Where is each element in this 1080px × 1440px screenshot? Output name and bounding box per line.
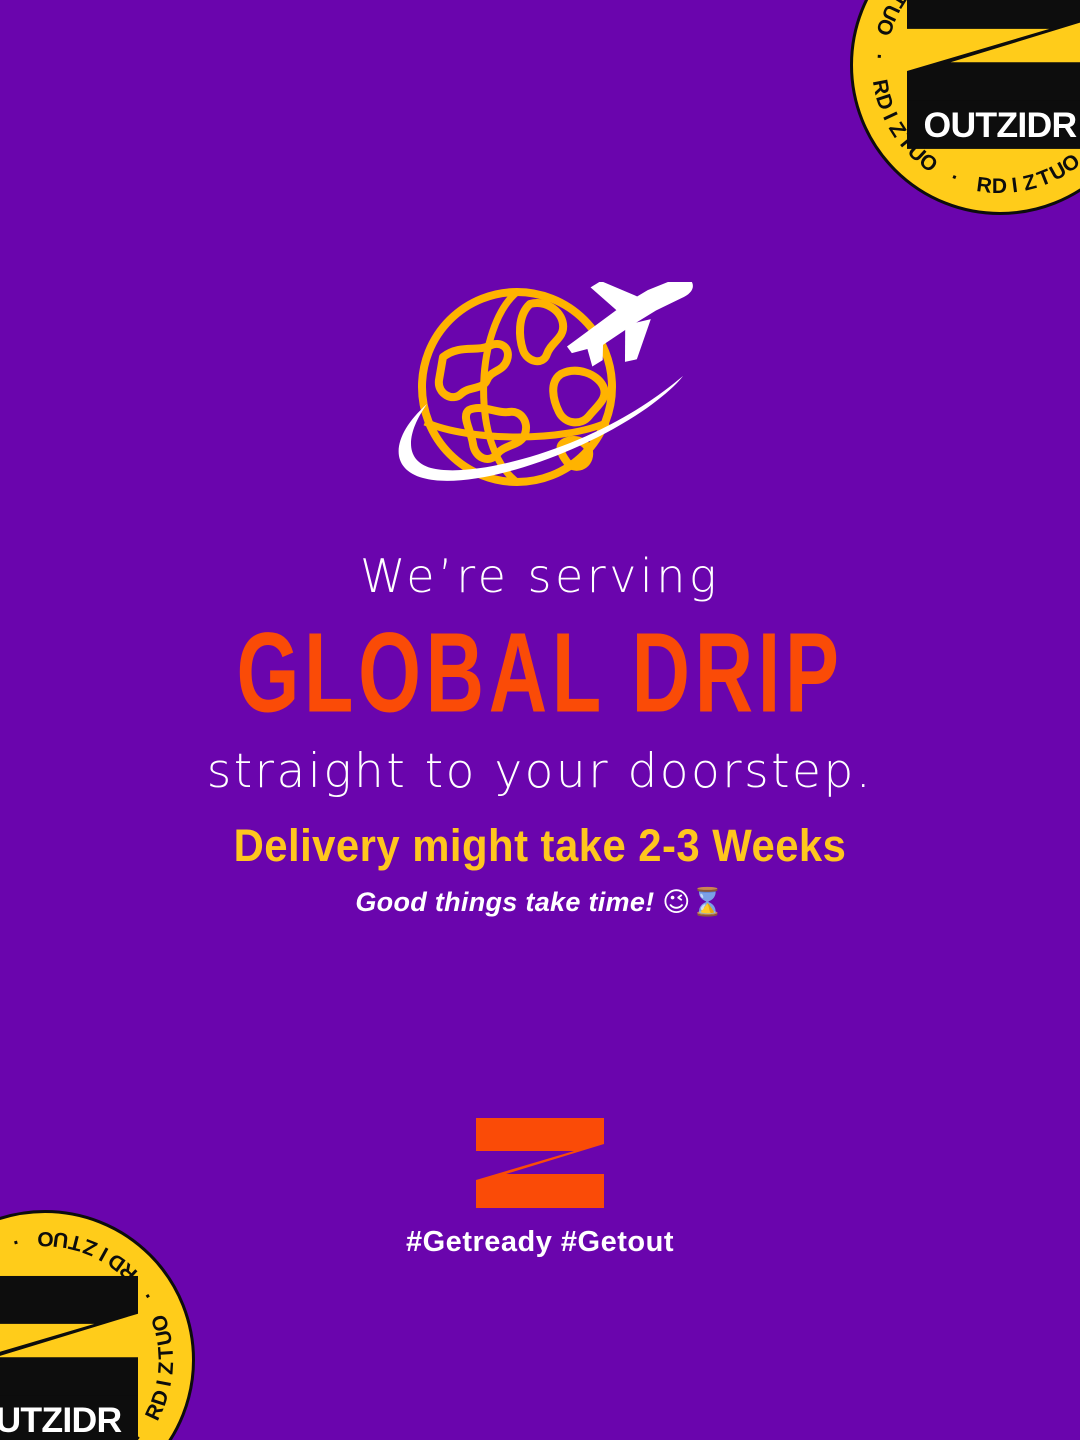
wink-hourglass-emoji: 😉⌛ — [662, 887, 724, 918]
badge-ring-letter: · — [866, 53, 890, 62]
badge-ring-letter: T — [154, 1345, 179, 1360]
badge-ring-letter: R — [975, 173, 994, 199]
outzidr-stamp-badge-bottom-left: OUTZIDR·OUTZIDR·OUTZIDR·OUTZIDR·OUTZIDR·… — [0, 1210, 195, 1440]
delivery-headline: Delivery might take 2-3 Weeks — [38, 820, 1042, 872]
hashtags-text: #Getready #Getout — [406, 1226, 674, 1259]
badge-z-monogram — [907, 0, 1080, 112]
delivery-subtext: Good things take time! 😉⌛ — [0, 886, 1080, 918]
outzidr-stamp-badge-top-right: OUTZIDR·OUTZIDR·OUTZIDR·OUTZIDR·OUTZIDR·… — [850, 0, 1080, 215]
globe-airplane-illustration — [365, 282, 715, 508]
headline-line-3: straight to your doorstep. — [0, 744, 1080, 799]
badge-wordmark-text: OUTZIDR — [924, 106, 1077, 145]
badge-wordmark-text: OUTZIDR — [0, 1401, 122, 1440]
badge-ring-letter: · — [8, 1229, 22, 1254]
badge-ring-letter: I — [1010, 174, 1020, 199]
badge-ring-letter: D — [992, 175, 1008, 199]
badge-ring-letter: · — [136, 1285, 161, 1305]
headline-block: We’re serving GLOBAL DRIP straight to yo… — [0, 548, 1080, 799]
badge-wordmark: OUTZIDR — [0, 1396, 138, 1440]
headline-line-2: GLOBAL DRIP — [32, 614, 1047, 733]
badge-ring-letter: Z — [154, 1360, 179, 1375]
delivery-note-block: Delivery might take 2-3 Weeks Good thing… — [0, 820, 1080, 918]
badge-wordmark: OUTZIDR — [907, 101, 1080, 150]
airplane-icon — [549, 282, 711, 382]
globe-icon — [422, 292, 612, 482]
delivery-subtext-label: Good things take time! — [355, 887, 654, 917]
badge-core: OUTZIDR — [907, 0, 1080, 149]
promo-poster: We’re serving GLOBAL DRIP straight to yo… — [0, 0, 1080, 1440]
badge-core: OUTZIDR — [0, 1276, 138, 1440]
outzidr-z-logo — [476, 1118, 604, 1208]
badge-z-monogram — [0, 1276, 138, 1407]
badge-ring-letter: · — [947, 166, 963, 191]
headline-line-1: We’re serving — [0, 548, 1080, 606]
